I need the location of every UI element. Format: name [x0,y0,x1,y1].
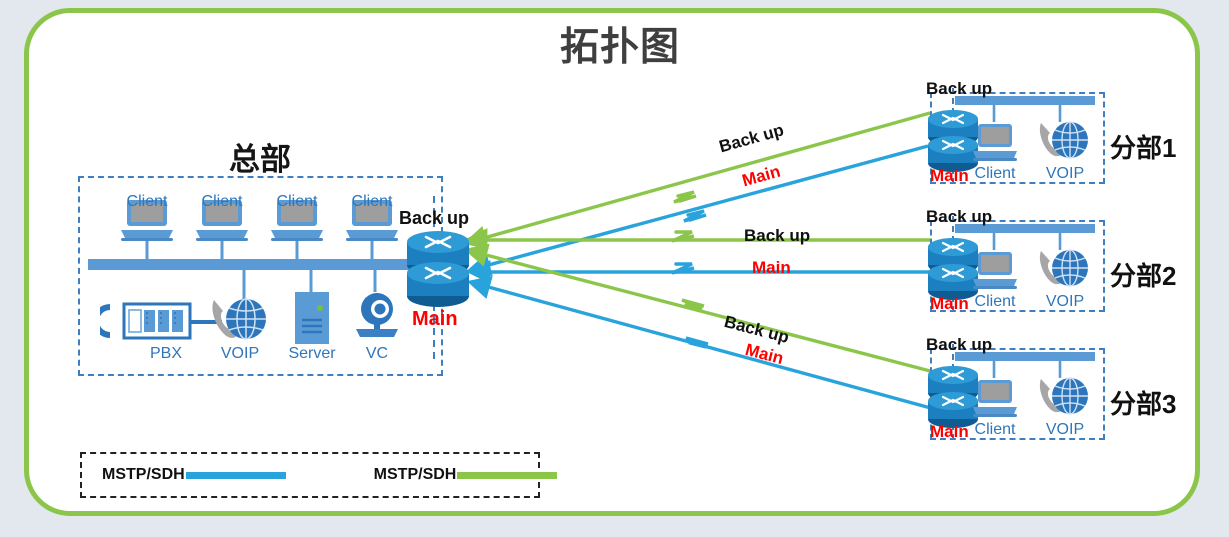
hq-client-2-label: Client [199,192,245,211]
branch2-main-label: Main [930,294,969,314]
hq-client-1-label: Client [124,192,170,211]
server-icon [293,290,331,351]
legend: MSTP/SDH MSTP/SDH [80,452,540,498]
branch2-title: 分部2 [1110,256,1176,293]
branch2-voip-icon [1036,246,1092,297]
branch2-backup-label: Back up [926,207,992,227]
branch1-client-icon [971,122,1019,167]
branch3-main-label: Main [930,422,969,442]
branch2-client-icon [971,250,1019,295]
topology-diagram: 拓扑图 [0,0,1229,537]
legend-item-mstp-green: MSTP/SDH [374,466,558,484]
hq-router-stack [404,224,472,313]
link-branch2-backup-label: Back up [744,226,810,246]
hq-client-3-label: Client [274,192,320,211]
branch2-voip-label: VOIP [1042,292,1088,311]
branch1-client-label: Client [972,164,1018,183]
branch3-title: 分部3 [1110,384,1176,421]
voip-label: VOIP [217,344,263,363]
branch1-main-label: Main [930,166,969,186]
legend-item-mstp-blue: MSTP/SDH [102,466,286,484]
branch3-backup-label: Back up [926,335,992,355]
branch1-backup-label: Back up [926,79,992,99]
legend-swatch-green [457,472,557,479]
voip-globe-icon [208,294,270,351]
branch2-client-label: Client [972,292,1018,311]
hq-main-label: Main [412,308,458,331]
video-camera-icon [350,290,404,345]
branch3-client-label: Client [972,420,1018,439]
page-title: 拓扑图 [500,16,740,72]
branch1-title: 分部1 [1110,128,1176,165]
legend-label-2: MSTP/SDH [374,466,457,484]
branch1-voip-label: VOIP [1042,164,1088,183]
server-label: Server [286,344,338,363]
legend-swatch-blue [186,472,286,479]
branch3-voip-label: VOIP [1042,420,1088,439]
branch3-voip-icon [1036,374,1092,425]
link-branch2-main-label: Main [752,258,791,278]
hq-title: 总部 [195,134,325,179]
legend-label-1: MSTP/SDH [102,466,185,484]
vc-label: VC [354,344,400,363]
branch3-client-icon [971,378,1019,423]
hq-client-4-label: Client [349,192,395,211]
branch1-voip-icon [1036,118,1092,169]
pbx-label: PBX [143,344,189,363]
